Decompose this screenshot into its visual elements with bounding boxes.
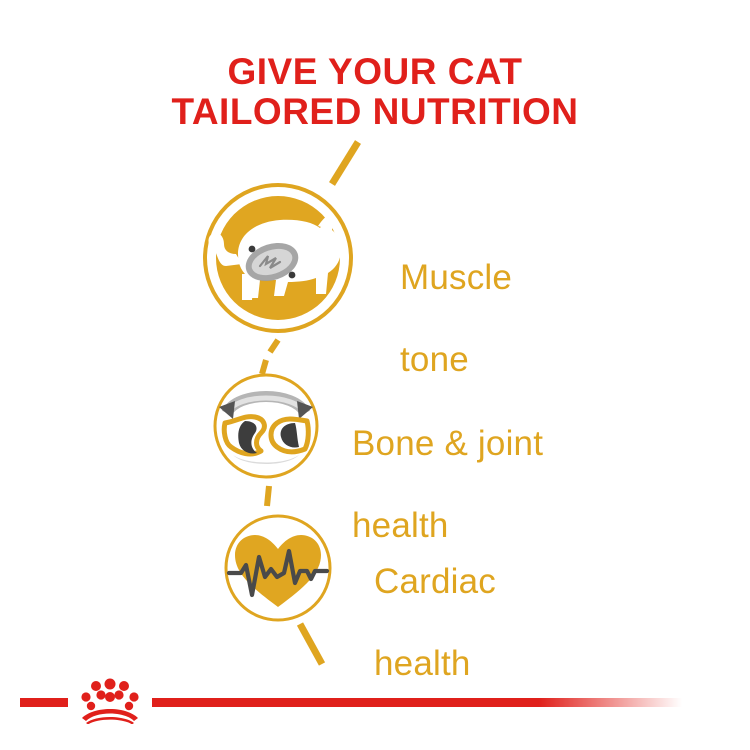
royal-canin-crown-icon	[74, 676, 146, 724]
infographic-canvas: GIVE YOUR CAT TAILORED NUTRITION	[0, 0, 750, 750]
brand-bar-right-segment	[152, 698, 682, 707]
cat-muscle-icon	[198, 178, 358, 343]
benefit-label-muscle-tone: Muscle tone	[400, 216, 512, 380]
benefit-label-line-1: Cardiac	[374, 562, 496, 601]
bone-joint-icon	[211, 371, 321, 486]
brand-bar	[0, 654, 750, 750]
benefit-label-line-2: tone	[400, 340, 469, 379]
benefit-label-line-1: Bone & joint	[352, 424, 543, 463]
page-title: GIVE YOUR CAT TAILORED NUTRITION	[0, 52, 750, 132]
headline-line-1: GIVE YOUR CAT	[0, 52, 750, 92]
heart-ecg-icon	[221, 511, 335, 630]
benefit-label-line-1: Muscle	[400, 258, 512, 297]
headline-line-2: TAILORED NUTRITION	[0, 92, 750, 132]
brand-bar-left-segment	[20, 698, 68, 707]
